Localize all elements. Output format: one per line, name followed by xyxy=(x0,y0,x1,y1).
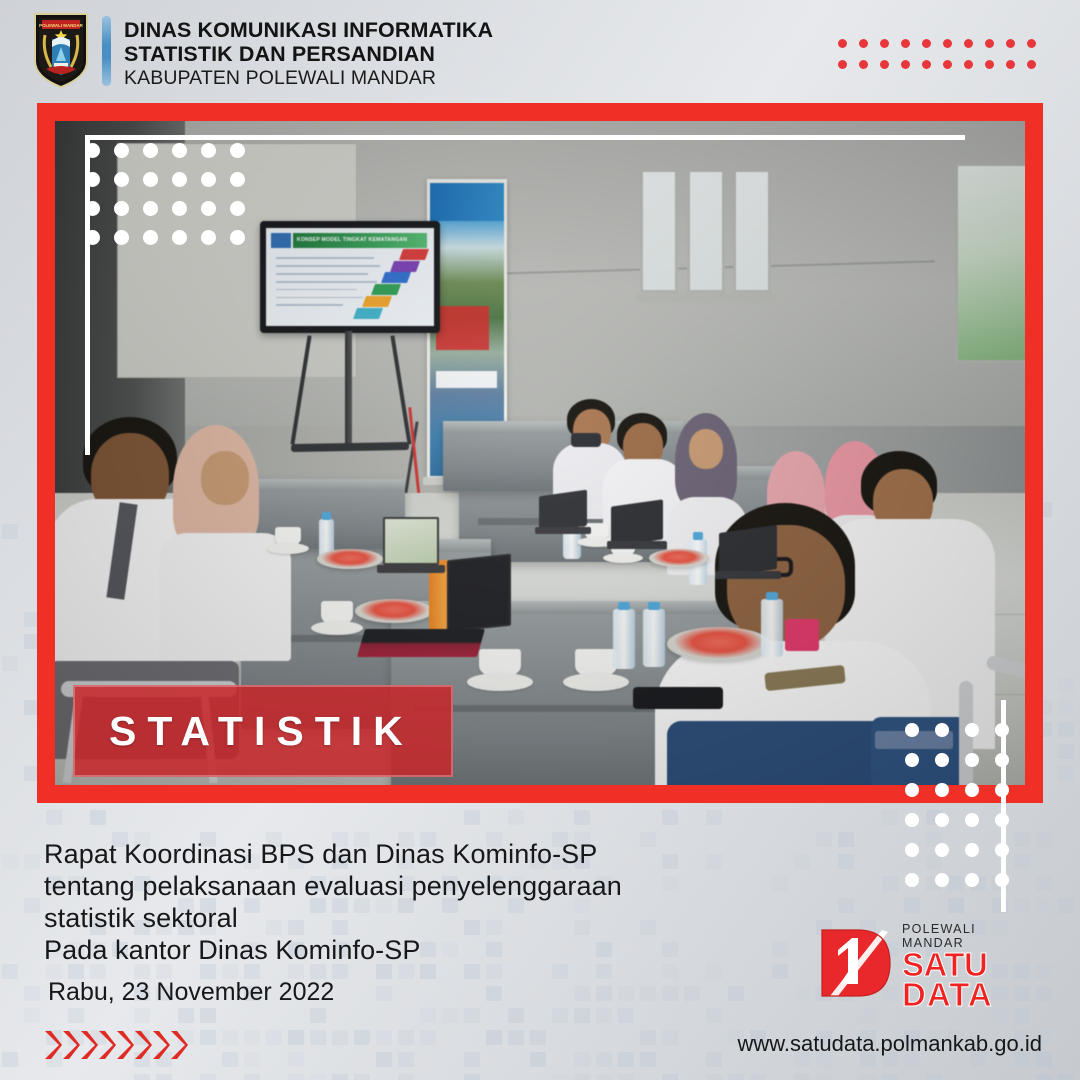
mosaic-tile xyxy=(464,1052,480,1067)
photo-dot xyxy=(201,201,216,216)
photo-dot xyxy=(172,230,187,245)
header-dot xyxy=(838,60,847,69)
mosaic-tile xyxy=(530,1030,546,1045)
header-dot xyxy=(880,60,889,69)
photo-dot xyxy=(201,172,216,187)
wallet xyxy=(633,687,723,709)
mosaic-tile xyxy=(24,898,40,913)
header-dot xyxy=(1027,39,1036,48)
header-divider xyxy=(102,16,111,86)
header-dot xyxy=(964,60,973,69)
mosaic-tile xyxy=(772,964,788,979)
mosaic-tile xyxy=(838,854,854,869)
mosaic-tile xyxy=(882,810,898,825)
mosaic-tile xyxy=(596,1008,612,1023)
mosaic-tile xyxy=(2,656,18,671)
photo-dot xyxy=(172,172,187,187)
mosaic-tile xyxy=(552,1074,568,1080)
mosaic-tile xyxy=(398,964,414,979)
slide-logo-icon xyxy=(271,233,291,248)
mosaic-tile xyxy=(684,986,700,1001)
mosaic-tile xyxy=(376,1030,392,1045)
photo-dot xyxy=(143,143,158,158)
mosaic-tile xyxy=(860,1074,876,1080)
photo-dot xyxy=(143,172,158,187)
satu-data-word-data: DATA xyxy=(902,980,1033,1010)
mosaic-tile xyxy=(2,964,18,979)
mosaic-tile xyxy=(178,1008,194,1023)
mosaic-tile xyxy=(1014,1008,1030,1023)
mosaic-tile xyxy=(662,964,678,979)
mosaic-tile xyxy=(772,942,788,957)
mosaic-tile xyxy=(838,832,854,847)
mosaic-tile xyxy=(574,1074,590,1080)
mosaic-tile xyxy=(882,1074,898,1080)
mosaic-tile xyxy=(1036,964,1052,979)
mosaic-tile xyxy=(156,964,172,979)
mosaic-tile xyxy=(68,964,84,979)
water-bottle xyxy=(613,609,635,669)
mosaic-tile xyxy=(574,986,590,1001)
mosaic-tile xyxy=(750,1074,766,1080)
chevron-arrow-strip xyxy=(44,1030,188,1060)
mosaic-tile xyxy=(574,1052,590,1067)
mosaic-tile xyxy=(552,1008,568,1023)
mosaic-tile xyxy=(288,1030,304,1045)
mosaic-tile xyxy=(706,1052,722,1067)
photo-dot-pattern xyxy=(85,143,259,259)
mosaic-tile xyxy=(222,1030,238,1045)
header-dot xyxy=(880,39,889,48)
mosaic-tile xyxy=(926,1074,942,1080)
mosaic-tile xyxy=(640,986,656,1001)
mosaic-tile xyxy=(244,1030,260,1045)
header-dot xyxy=(1006,60,1015,69)
event-date: Rabu, 23 November 2022 xyxy=(48,978,334,1007)
header-dot xyxy=(1006,39,1015,48)
bottom-right-white-rule xyxy=(1001,700,1006,912)
mosaic-tile xyxy=(662,986,678,1001)
mosaic-tile xyxy=(288,964,304,979)
mosaic-tile xyxy=(662,810,678,825)
bottom-right-dot xyxy=(905,753,919,767)
window-2 xyxy=(687,169,725,293)
mosaic-tile xyxy=(596,1052,612,1067)
mosaic-tile xyxy=(288,1052,304,1067)
mosaic-tile xyxy=(222,964,238,979)
bottom-right-dot xyxy=(935,873,949,887)
water-bottle xyxy=(761,599,783,657)
header-line-1: DINAS KOMUNIKASI INFORMATIKA xyxy=(124,18,493,42)
fruit-plate xyxy=(355,599,433,623)
mosaic-tile xyxy=(596,986,612,1001)
mosaic-tile xyxy=(1058,700,1074,715)
mosaic-tile xyxy=(816,832,832,847)
mosaic-tile xyxy=(486,964,502,979)
mosaic-tile xyxy=(508,810,524,825)
mosaic-tile xyxy=(354,1030,370,1045)
photo-dot xyxy=(230,143,245,158)
fruit-plate xyxy=(317,549,383,569)
mosaic-tile xyxy=(46,964,62,979)
mosaic-tile xyxy=(662,1030,678,1045)
bottom-right-dot xyxy=(965,783,979,797)
header-dot xyxy=(901,39,910,48)
header-dot xyxy=(964,39,973,48)
photo-dot xyxy=(85,230,100,245)
mosaic-tile xyxy=(310,1030,326,1045)
mosaic-tile xyxy=(2,854,18,869)
satu-data-d-one-mark-icon xyxy=(818,926,896,1000)
mosaic-tile xyxy=(376,1052,392,1067)
mosaic-tile xyxy=(200,964,216,979)
header-dot xyxy=(922,60,931,69)
svg-text:POLEWALI MANDAR: POLEWALI MANDAR xyxy=(39,23,83,28)
mosaic-tile xyxy=(134,1074,150,1080)
photo-dot xyxy=(172,143,187,158)
mosaic-tile xyxy=(398,1074,414,1080)
photo-dot xyxy=(172,201,187,216)
mosaic-tile xyxy=(1058,744,1074,759)
mosaic-tile xyxy=(706,810,722,825)
photo-dot xyxy=(230,201,245,216)
mosaic-tile xyxy=(288,1074,304,1080)
bottom-right-dot xyxy=(965,753,979,767)
photo-dot xyxy=(114,143,129,158)
bottom-right-dot xyxy=(965,843,979,857)
chevron-right-icon xyxy=(44,1030,63,1060)
caption-line-1: Rapat Koordinasi BPS dan Dinas Kominfo-S… xyxy=(44,838,744,870)
bottom-right-dot xyxy=(935,813,949,827)
bottom-right-dot xyxy=(905,843,919,857)
bottom-right-dot xyxy=(935,723,949,737)
header-dot xyxy=(859,60,868,69)
mosaic-tile xyxy=(992,1008,1008,1023)
bottom-right-dot xyxy=(965,873,979,887)
fruit-plate xyxy=(649,549,709,567)
bottom-right-dot xyxy=(935,753,949,767)
mosaic-tile xyxy=(1058,898,1074,913)
mosaic-tile xyxy=(420,964,436,979)
photo-dot xyxy=(114,172,129,187)
mosaic-tile xyxy=(728,986,744,1001)
photo-inner-frame-top xyxy=(85,135,965,140)
mosaic-tile xyxy=(24,986,40,1001)
mosaic-tile xyxy=(574,810,590,825)
chevron-right-icon xyxy=(62,1030,81,1060)
mosaic-tile xyxy=(618,1052,634,1067)
mosaic-tile xyxy=(24,854,40,869)
statistik-badge: STATISTIK xyxy=(73,685,453,777)
mosaic-tile xyxy=(816,1074,832,1080)
mosaic-tile xyxy=(90,964,106,979)
mosaic-tile xyxy=(420,1008,436,1023)
photo-dot xyxy=(201,230,216,245)
mosaic-tile xyxy=(508,1008,524,1023)
website-url[interactable]: www.satudata.polmankab.go.id xyxy=(737,1031,1042,1057)
mosaic-tile xyxy=(574,1008,590,1023)
mosaic-tile xyxy=(1036,876,1052,891)
chevron-right-icon xyxy=(80,1030,99,1060)
mosaic-tile xyxy=(156,1074,172,1080)
statistik-badge-label: STATISTIK xyxy=(75,708,414,755)
caption-block: Rapat Koordinasi BPS dan Dinas Kominfo-S… xyxy=(44,838,744,966)
mosaic-tile xyxy=(596,1074,612,1080)
mosaic-tile xyxy=(310,964,326,979)
mosaic-tile xyxy=(2,1052,18,1067)
bottom-right-dot xyxy=(905,783,919,797)
header-dot xyxy=(859,39,868,48)
mosaic-tile xyxy=(772,876,788,891)
photo-dot xyxy=(230,230,245,245)
polewali-mandar-coat-of-arms-icon: POLEWALI MANDAR xyxy=(32,11,90,89)
mosaic-tile xyxy=(2,524,18,539)
mosaic-tile xyxy=(332,1030,348,1045)
window-sill xyxy=(635,293,777,303)
mosaic-tile xyxy=(398,1052,414,1067)
mosaic-tile xyxy=(838,898,854,913)
mosaic-tile xyxy=(1058,766,1074,781)
header-line-3: KABUPATEN POLEWALI MANDAR xyxy=(124,66,493,91)
mosaic-tile xyxy=(882,876,898,891)
mosaic-tile xyxy=(222,1052,238,1067)
photo-dot xyxy=(114,230,129,245)
mosaic-tile xyxy=(596,964,612,979)
mosaic-tile xyxy=(1036,986,1052,1001)
caption-line-4: Pada kantor Dinas Kominfo-SP xyxy=(44,934,744,966)
mosaic-tile xyxy=(376,964,392,979)
chevron-right-icon xyxy=(116,1030,135,1060)
saucer xyxy=(311,621,363,635)
mosaic-tile xyxy=(640,1030,656,1045)
bottom-right-dot-pattern xyxy=(905,723,1025,903)
mosaic-tile xyxy=(310,1074,326,1080)
mosaic-tile xyxy=(90,810,106,825)
mosaic-tile xyxy=(200,1008,216,1023)
bottom-right-dot xyxy=(935,783,949,797)
mosaic-tile xyxy=(860,1008,876,1023)
mosaic-tile xyxy=(266,1030,282,1045)
mosaic-tile xyxy=(1058,678,1074,693)
mosaic-tile xyxy=(706,1008,722,1023)
window-3 xyxy=(733,169,771,293)
saucer xyxy=(563,673,629,691)
bottom-right-dot xyxy=(905,873,919,887)
photo-dot xyxy=(230,172,245,187)
mosaic-tile xyxy=(332,964,348,979)
mosaic-tile xyxy=(24,1008,40,1023)
mosaic-tile xyxy=(420,1030,436,1045)
photo-dot xyxy=(85,172,100,187)
header-bar: POLEWALI MANDAR DINAS KOMUNIKASI INFORMA… xyxy=(0,0,1080,103)
header-dot xyxy=(838,39,847,48)
mosaic-tile xyxy=(200,1074,216,1080)
mosaic-tile xyxy=(464,810,480,825)
mosaic-tile xyxy=(530,1052,546,1067)
mosaic-tile xyxy=(464,1008,480,1023)
mosaic-tile xyxy=(134,964,150,979)
photo-dot xyxy=(114,201,129,216)
mosaic-tile xyxy=(46,810,62,825)
tissue-box xyxy=(785,619,819,651)
bottom-right-dot xyxy=(965,723,979,737)
mosaic-tile xyxy=(1036,1074,1052,1080)
caption-line-3: statistik sektoral xyxy=(44,902,744,934)
chevron-right-icon xyxy=(170,1030,189,1060)
header-title-block: DINAS KOMUNIKASI INFORMATIKA STATISTIK D… xyxy=(124,18,493,91)
mosaic-tile xyxy=(376,986,392,1001)
header-line-2: STATISTIK DAN PERSANDIAN xyxy=(124,42,493,66)
mosaic-tile xyxy=(706,964,722,979)
mosaic-tile xyxy=(332,1074,348,1080)
caption-line-2: tentang pelaksanaan evaluasi penyelengga… xyxy=(44,870,744,902)
mosaic-tile xyxy=(310,1008,326,1023)
mosaic-tile xyxy=(640,1052,656,1067)
mosaic-tile xyxy=(508,1030,524,1045)
mosaic-tile xyxy=(706,1074,722,1080)
mosaic-tile xyxy=(354,1074,370,1080)
mosaic-tile xyxy=(662,1074,678,1080)
mosaic-tile xyxy=(728,1074,744,1080)
mosaic-tile xyxy=(1036,898,1052,913)
mosaic-tile xyxy=(442,1008,458,1023)
saucer xyxy=(267,543,309,554)
window-4-garden-view xyxy=(955,163,1025,363)
bottom-right-dot xyxy=(905,813,919,827)
header-dot xyxy=(943,60,952,69)
poster-canvas: POLEWALI MANDAR DINAS KOMUNIKASI INFORMA… xyxy=(0,0,1080,1080)
mosaic-tile xyxy=(486,986,502,1001)
mosaic-tile xyxy=(794,986,810,1001)
presentation-monitor: KONSEP MODEL TINGKAT KEMATANGAN xyxy=(260,221,440,333)
mosaic-tile xyxy=(794,1074,810,1080)
chevron-right-icon xyxy=(152,1030,171,1060)
slide-maturity-staircase xyxy=(352,246,429,320)
photo-red-frame: KONSEP MODEL TINGKAT KEMATANGAN xyxy=(37,103,1043,803)
mosaic-tile xyxy=(464,964,480,979)
chevron-right-icon xyxy=(98,1030,117,1060)
mosaic-tile xyxy=(244,964,260,979)
mosaic-tile xyxy=(200,1030,216,1045)
header-dot-pattern xyxy=(832,33,1042,75)
mosaic-tile xyxy=(134,1008,150,1023)
presentation-slide: KONSEP MODEL TINGKAT KEMATANGAN xyxy=(266,228,434,326)
mosaic-tile xyxy=(68,1008,84,1023)
mosaic-tile xyxy=(244,1052,260,1067)
mosaic-tile xyxy=(244,1074,260,1080)
mosaic-tile xyxy=(552,964,568,979)
header-dot xyxy=(985,60,994,69)
mosaic-tile xyxy=(618,986,634,1001)
mosaic-tile xyxy=(618,1074,634,1080)
header-dot xyxy=(985,39,994,48)
chevron-right-icon xyxy=(134,1030,153,1060)
water-bottle xyxy=(643,609,665,667)
mosaic-tile xyxy=(1036,832,1052,847)
mosaic-tile xyxy=(794,854,810,869)
photo-dot xyxy=(85,201,100,216)
mosaic-tile xyxy=(1058,1074,1074,1080)
header-dot xyxy=(943,39,952,48)
saucer xyxy=(467,673,533,691)
photo-dot xyxy=(201,143,216,158)
bottom-right-dot xyxy=(905,723,919,737)
meeting-photo: KONSEP MODEL TINGKAT KEMATANGAN xyxy=(55,121,1025,785)
saucer xyxy=(603,553,643,563)
header-dot xyxy=(922,39,931,48)
satu-data-logo[interactable]: POLEWALI MANDAR SATU DATA xyxy=(818,922,1033,1002)
mosaic-tile xyxy=(398,1030,414,1045)
bottom-right-dot xyxy=(965,813,979,827)
satu-data-wordmark: POLEWALI MANDAR SATU DATA xyxy=(902,922,1033,1010)
mosaic-tile xyxy=(464,1074,480,1080)
window-1 xyxy=(640,169,678,293)
mosaic-tile xyxy=(618,1008,634,1023)
photo-dot xyxy=(85,143,100,158)
bottom-right-dot xyxy=(935,843,949,857)
mosaic-tile xyxy=(486,1030,502,1045)
header-dot xyxy=(901,60,910,69)
photo-dot xyxy=(143,201,158,216)
monitor-stand-pole xyxy=(345,331,352,449)
mosaic-tile xyxy=(1058,722,1074,737)
header-dot xyxy=(1027,60,1036,69)
fruit-plate-large xyxy=(667,627,771,661)
photo-dot xyxy=(143,230,158,245)
